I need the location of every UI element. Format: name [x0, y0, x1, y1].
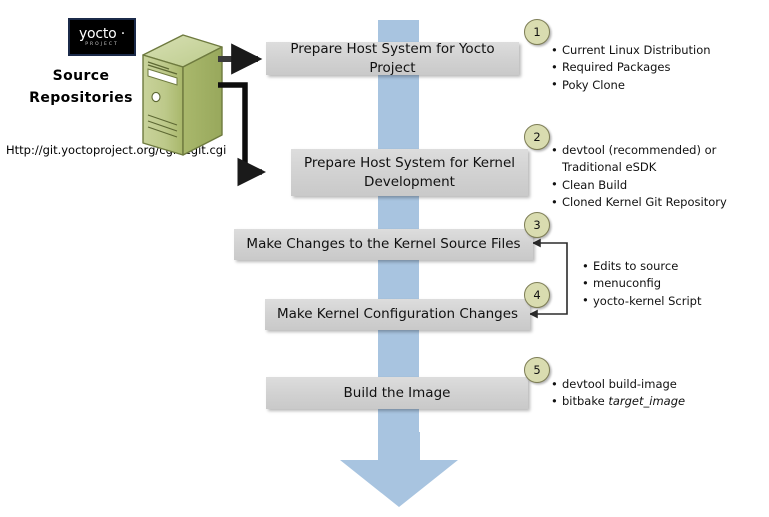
bullet-text: devtool (recommended) or	[562, 143, 716, 157]
list-item: Required Packages	[551, 59, 711, 76]
list-item: menuconfig	[582, 275, 702, 292]
step-box-1[interactable]: Prepare Host System for Yocto Project	[266, 42, 519, 75]
diagram-canvas: yocto · PROJECT Source Repositories Http…	[0, 0, 769, 517]
step-number-3: 3	[524, 212, 550, 238]
bullet-text: Required Packages	[562, 60, 671, 74]
step-box-4[interactable]: Make Kernel Configuration Changes	[265, 299, 530, 330]
list-item: Current Linux Distribution	[551, 42, 711, 59]
yocto-project-logo: yocto · PROJECT	[68, 18, 136, 56]
source-repositories-label: Source Repositories	[22, 66, 140, 109]
step-box-3-label: Make Changes to the Kernel Source Files	[246, 235, 520, 253]
source-label-line2: Repositories	[22, 88, 140, 110]
step-number-3-text: 3	[533, 218, 540, 232]
step-box-3[interactable]: Make Changes to the Kernel Source Files	[234, 229, 533, 260]
bullet-text: bitbake	[562, 394, 608, 408]
list-item: bitbake target_image	[551, 393, 685, 410]
list-item: devtool build-image	[551, 376, 685, 393]
bullet-text: Clean Build	[562, 178, 627, 192]
step-number-2: 2	[524, 124, 550, 150]
step-number-4: 4	[524, 282, 550, 308]
list-item: Clean Build	[551, 177, 727, 194]
bullet-text-continued: Traditional eSDK	[562, 159, 727, 176]
bullet-text: Cloned Kernel Git Repository	[562, 195, 727, 209]
list-item: devtool (recommended) or Traditional eSD…	[551, 142, 727, 177]
bullet-text: yocto-kernel Script	[593, 294, 702, 308]
step-1-bullets: Current Linux Distribution Required Pack…	[551, 42, 711, 94]
step-5-bullets: devtool build-image bitbake target_image	[551, 376, 685, 411]
step-box-5[interactable]: Build the Image	[266, 377, 528, 409]
logo-subtext: PROJECT	[85, 43, 118, 48]
step-box-1-label: Prepare Host System for Yocto Project	[266, 40, 519, 76]
list-item: Poky Clone	[551, 77, 711, 94]
bullet-text: Edits to source	[593, 259, 678, 273]
step-3-4-shared-bullets: Edits to source menuconfig yocto-kernel …	[582, 258, 702, 310]
list-item: Edits to source	[582, 258, 702, 275]
list-item: yocto-kernel Script	[582, 293, 702, 310]
bullet-text-emphasis: target_image	[608, 394, 685, 408]
server-icon	[139, 33, 225, 158]
step-2-bullets: devtool (recommended) or Traditional eSD…	[551, 142, 727, 212]
bullet-text: Poky Clone	[562, 78, 625, 92]
bullet-text: Current Linux Distribution	[562, 43, 711, 57]
step-number-5: 5	[524, 357, 550, 383]
step-number-4-text: 4	[533, 288, 540, 302]
workflow-flow-band	[378, 20, 419, 435]
step-number-1: 1	[524, 19, 550, 45]
step-box-4-label: Make Kernel Configuration Changes	[277, 305, 518, 323]
step-number-2-text: 2	[533, 130, 540, 144]
bullet-text: devtool build-image	[562, 377, 677, 391]
bullet-text: menuconfig	[593, 276, 661, 290]
step-box-2-label: Prepare Host System for Kernel Developme…	[291, 154, 528, 190]
step-number-1-text: 1	[533, 25, 540, 39]
source-label-line1: Source	[22, 66, 140, 88]
step-box-2[interactable]: Prepare Host System for Kernel Developme…	[291, 149, 528, 196]
step-number-5-text: 5	[533, 363, 540, 377]
logo-wordmark: yocto ·	[79, 27, 125, 41]
step-box-5-label: Build the Image	[344, 384, 451, 402]
list-item: Cloned Kernel Git Repository	[551, 194, 727, 211]
workflow-down-arrow-icon	[336, 432, 462, 510]
